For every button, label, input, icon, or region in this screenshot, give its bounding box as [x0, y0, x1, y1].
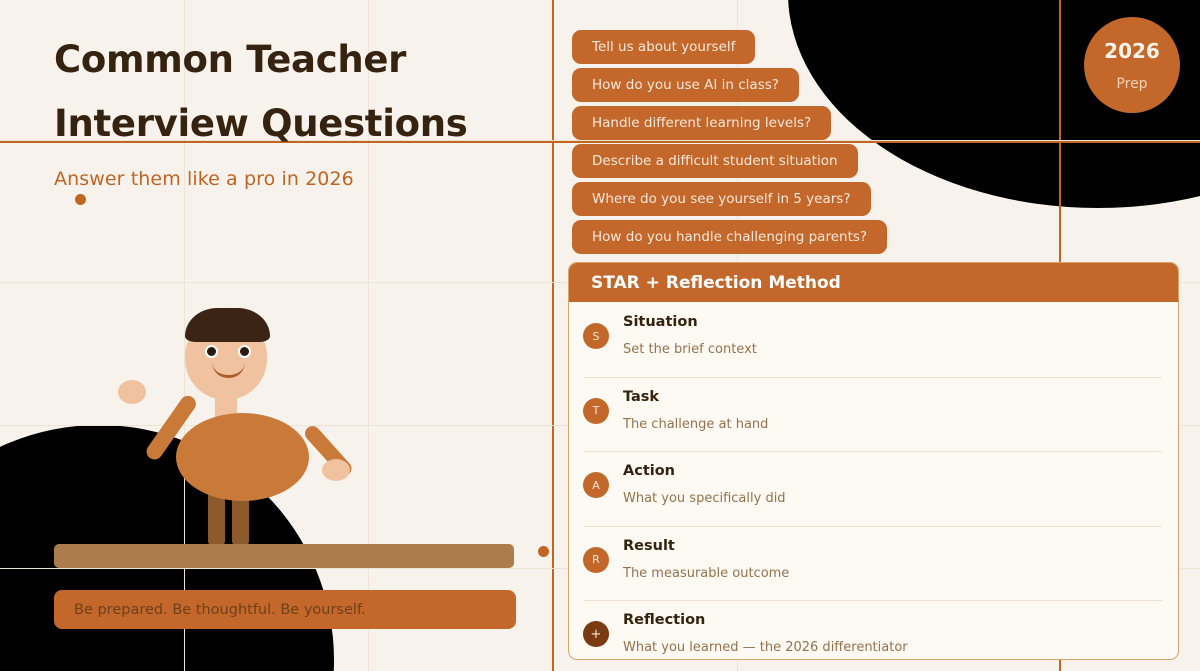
question-pill[interactable]: Describe a difficult student situation	[572, 144, 858, 178]
tagline-text: Be prepared. Be thoughtful. Be yourself.	[74, 602, 366, 618]
star-row-text: Reflection What you learned — the 2026 d…	[623, 611, 908, 655]
teacher-right-leg	[232, 494, 249, 546]
star-row-desc: The measurable outcome	[623, 566, 789, 581]
question-pill-label: How do you use AI in class?	[592, 77, 779, 93]
star-row-text: Action What you specifically did	[623, 462, 786, 506]
star-row-list: S Situation Set the brief context T Task…	[569, 302, 1178, 660]
star-row[interactable]: S Situation Set the brief context	[569, 302, 1178, 377]
star-row[interactable]: R Result The measurable outcome	[569, 526, 1178, 601]
illustration-platform	[54, 544, 514, 568]
page-title: Common Teacher Interview Questions	[54, 28, 524, 155]
star-method-panel: STAR + Reflection Method S Situation Set…	[568, 262, 1179, 660]
question-pill[interactable]: How do you handle challenging parents?	[572, 220, 887, 254]
question-pill[interactable]: Tell us about yourself	[572, 30, 755, 64]
star-row-desc: The challenge at hand	[623, 417, 768, 432]
year-badge-label: Prep	[1116, 76, 1147, 92]
star-row[interactable]: + Reflection What you learned — the 2026…	[569, 600, 1178, 660]
star-row[interactable]: A Action What you specifically did	[569, 451, 1178, 526]
question-pill-label: Handle different learning levels?	[592, 115, 811, 131]
question-pill-label: Describe a difficult student situation	[592, 153, 838, 169]
page-title-line-1: Common Teacher	[54, 28, 524, 92]
year-badge-year: 2026	[1104, 39, 1160, 63]
teacher-left-hand	[118, 380, 146, 404]
star-row[interactable]: T Task The challenge at hand	[569, 377, 1178, 452]
star-row-title: Result	[623, 538, 789, 554]
poster-canvas: Common Teacher Interview Questions Answe…	[0, 0, 1200, 671]
teacher-left-leg	[208, 494, 225, 546]
tagline-banner: Be prepared. Be thoughtful. Be yourself.	[54, 590, 516, 629]
question-pill-list: Tell us about yourself How do you use AI…	[572, 30, 887, 258]
star-row-text: Situation Set the brief context	[623, 313, 757, 357]
question-pill[interactable]: Handle different learning levels?	[572, 106, 831, 140]
question-pill[interactable]: How do you use AI in class?	[572, 68, 799, 102]
star-badge-a: A	[583, 472, 609, 498]
page-title-line-2: Interview Questions	[54, 92, 524, 156]
star-row-desc: Set the brief context	[623, 342, 757, 357]
star-row-desc: What you specifically did	[623, 491, 786, 506]
question-pill[interactable]: Where do you see yourself in 5 years?	[572, 182, 871, 216]
star-panel-title: STAR + Reflection Method	[591, 273, 841, 293]
star-badge-t: T	[583, 398, 609, 424]
star-row-title: Situation	[623, 314, 757, 330]
teacher-illustration	[100, 300, 360, 560]
teacher-torso	[176, 413, 309, 501]
gridline-vertical-accent-1	[552, 0, 554, 671]
star-panel-header: STAR + Reflection Method	[569, 263, 1178, 302]
question-pill-label: How do you handle challenging parents?	[592, 229, 867, 245]
star-badge-r: R	[583, 547, 609, 573]
accent-dot-1	[75, 194, 86, 205]
star-row-desc: What you learned — the 2026 differentiat…	[623, 640, 908, 655]
star-row-text: Task The challenge at hand	[623, 388, 768, 432]
accent-dot-2	[538, 546, 549, 557]
star-row-title: Reflection	[623, 612, 908, 628]
question-pill-label: Tell us about yourself	[592, 39, 735, 55]
teacher-left-pupil	[207, 347, 216, 356]
star-row-text: Result The measurable outcome	[623, 537, 789, 581]
teacher-right-pupil	[240, 347, 249, 356]
page-subtitle: Answer them like a pro in 2026	[54, 168, 354, 190]
question-pill-label: Where do you see yourself in 5 years?	[592, 191, 851, 207]
star-row-title: Action	[623, 463, 786, 479]
star-badge-s: S	[583, 323, 609, 349]
teacher-right-hand	[322, 459, 350, 481]
teacher-hat	[185, 308, 270, 342]
year-prep-badge: 2026 Prep	[1084, 17, 1180, 113]
star-row-title: Task	[623, 389, 768, 405]
star-badge-plus: +	[583, 621, 609, 647]
